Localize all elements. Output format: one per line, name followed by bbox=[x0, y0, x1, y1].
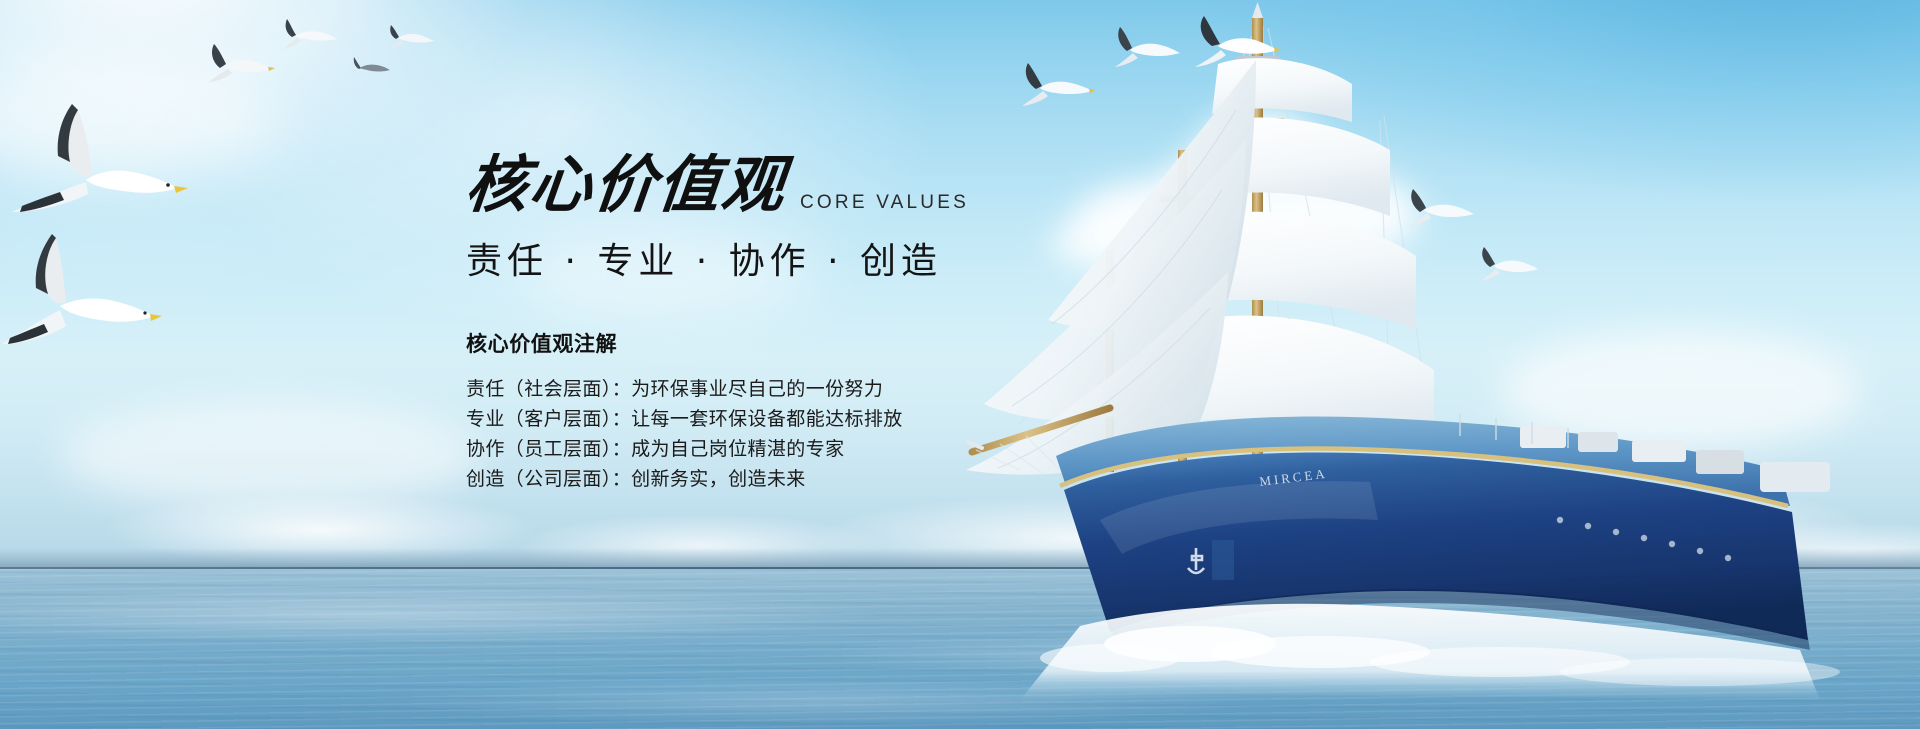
page-title-english: CORE VALUES bbox=[800, 192, 969, 220]
seagull-large-lower-left bbox=[0, 232, 190, 362]
seagull-right-1 bbox=[1406, 188, 1476, 230]
notes-section: 核心价值观注解 责任（社会层面）：为环保事业尽自己的一份努力 专业（客户层面）：… bbox=[466, 328, 1106, 494]
seagull-small-4 bbox=[388, 24, 436, 52]
note-line-professionalism: 专业（客户层面）：让每一套环保设备都能达标排放 bbox=[466, 404, 1106, 434]
seagull-mid-right-3 bbox=[1192, 14, 1282, 70]
core-values-text-block: 核心价值观 CORE VALUES 责任 · 专业 · 协作 · 创造 核心价值… bbox=[466, 146, 1106, 494]
seagull-mid-right-1 bbox=[1020, 62, 1096, 110]
note-line-collaboration: 协作（员工层面）：成为自己岗位精湛的专家 bbox=[466, 434, 1106, 464]
core-values-banner: MIRCEA bbox=[0, 0, 1920, 729]
page-title-chinese: 核心价值观 bbox=[462, 150, 789, 220]
notes-heading: 核心价值观注解 bbox=[466, 328, 1106, 358]
note-line-responsibility: 责任（社会层面）：为环保事业尽自己的一份努力 bbox=[466, 374, 1106, 404]
seagull-right-2 bbox=[1478, 246, 1540, 284]
seagull-small-1 bbox=[206, 42, 276, 86]
seagull-large-left bbox=[8, 96, 218, 226]
seagull-mid-right-2 bbox=[1114, 26, 1182, 70]
seagull-small-2 bbox=[282, 18, 340, 52]
note-line-creation: 创造（公司层面）：创新务实，创造未来 bbox=[466, 464, 1106, 494]
values-tagline: 责任 · 专业 · 协作 · 创造 bbox=[466, 238, 1106, 286]
title-row: 核心价值观 CORE VALUES bbox=[466, 146, 1106, 220]
seagull-small-3 bbox=[352, 56, 392, 82]
